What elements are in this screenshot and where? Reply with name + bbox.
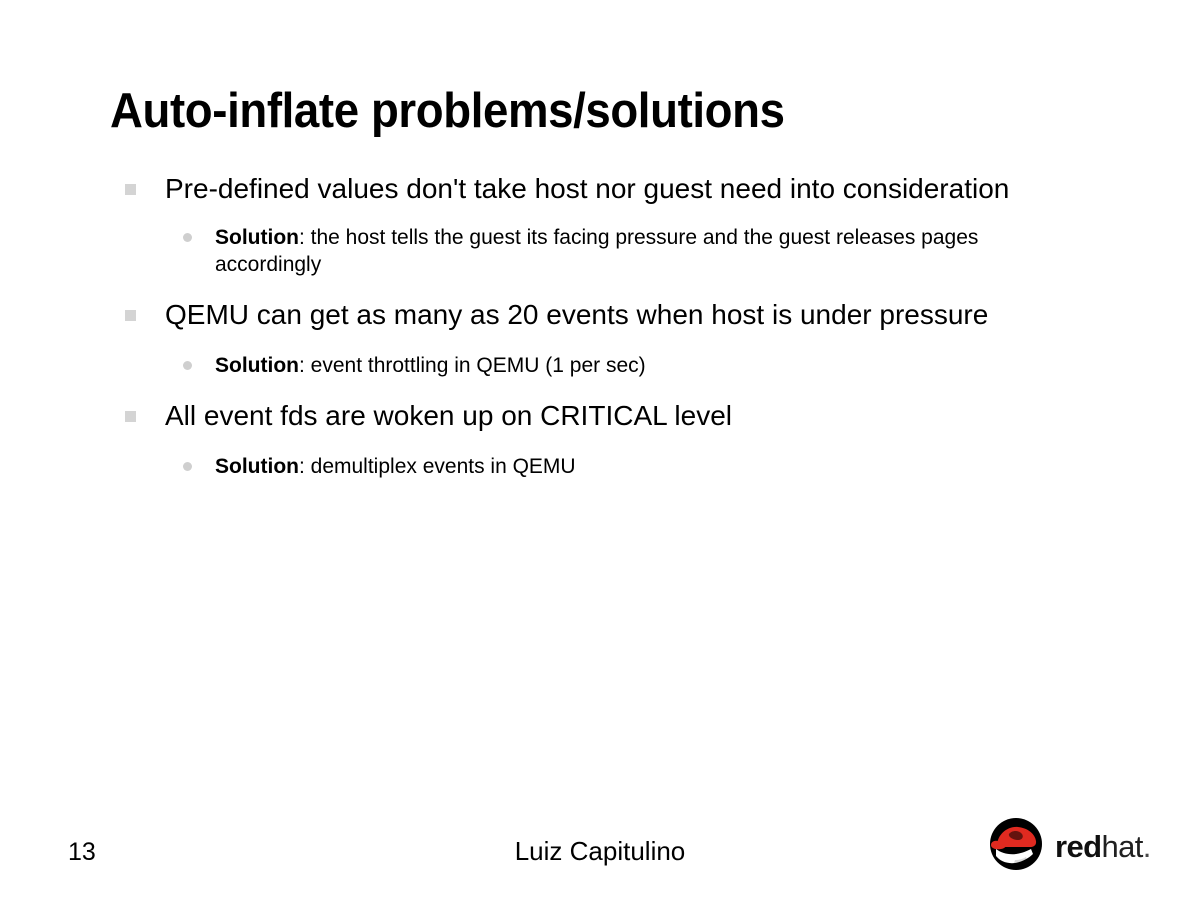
logo-word-hat: hat	[1101, 829, 1142, 864]
bullet-level1-text: All event fds are woken up on CRITICAL l…	[165, 400, 732, 431]
bullet-level1: Pre-defined values don't take host nor g…	[0, 172, 1200, 207]
bullet-level1-text: Pre-defined values don't take host nor g…	[165, 173, 1009, 204]
bullet-group: QEMU can get as many as 20 events when h…	[0, 298, 1200, 379]
square-bullet-icon	[125, 310, 136, 321]
square-bullet-icon	[125, 411, 136, 422]
bullet-level2-lead: Solution	[215, 455, 299, 478]
slide-body: Pre-defined values don't take host nor g…	[0, 172, 1200, 500]
bullet-level2-text: : demultiplex events in QEMU	[299, 455, 576, 478]
dot-bullet-icon	[183, 361, 192, 370]
dot-bullet-icon	[183, 233, 192, 242]
logo-word-dot: .	[1143, 829, 1151, 864]
square-bullet-icon	[125, 184, 136, 195]
bullet-level2-text: : event throttling in QEMU (1 per sec)	[299, 354, 646, 377]
bullet-level1: QEMU can get as many as 20 events when h…	[0, 298, 1200, 333]
bullet-level2-text: : the host tells the guest its facing pr…	[215, 226, 978, 276]
logo-word-red: red	[1055, 829, 1101, 864]
redhat-logo: redhat.	[985, 816, 1180, 876]
bullet-level2: Solution: the host tells the guest its f…	[0, 224, 1200, 279]
redhat-shadowman-icon	[985, 817, 1047, 876]
bullet-group: All event fds are woken up on CRITICAL l…	[0, 399, 1200, 480]
bullet-level2-lead: Solution	[215, 354, 299, 377]
bullet-level2: Solution: demultiplex events in QEMU	[0, 453, 1200, 480]
bullet-level1-text: QEMU can get as many as 20 events when h…	[165, 299, 988, 330]
bullet-level2-lead: Solution	[215, 226, 299, 249]
bullet-level2: Solution: event throttling in QEMU (1 pe…	[0, 352, 1200, 379]
bullet-group: Pre-defined values don't take host nor g…	[0, 172, 1200, 278]
bullet-level1: All event fds are woken up on CRITICAL l…	[0, 399, 1200, 434]
redhat-wordmark: redhat.	[1055, 831, 1151, 862]
slide: Auto-inflate problems/solutions Pre-defi…	[0, 0, 1200, 900]
dot-bullet-icon	[183, 462, 192, 471]
page-title: Auto-inflate problems/solutions	[110, 86, 1040, 137]
